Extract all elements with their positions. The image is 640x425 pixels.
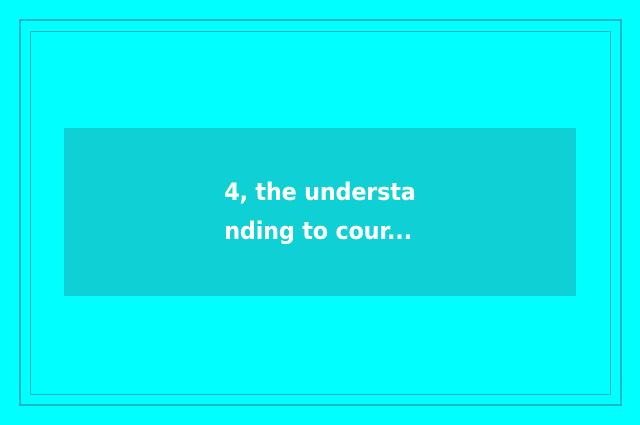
slide-canvas: 4, the understa nding to cour... xyxy=(0,0,640,425)
content-panel: 4, the understa nding to cour... xyxy=(64,128,576,296)
panel-text: 4, the understa nding to cour... xyxy=(224,173,415,251)
